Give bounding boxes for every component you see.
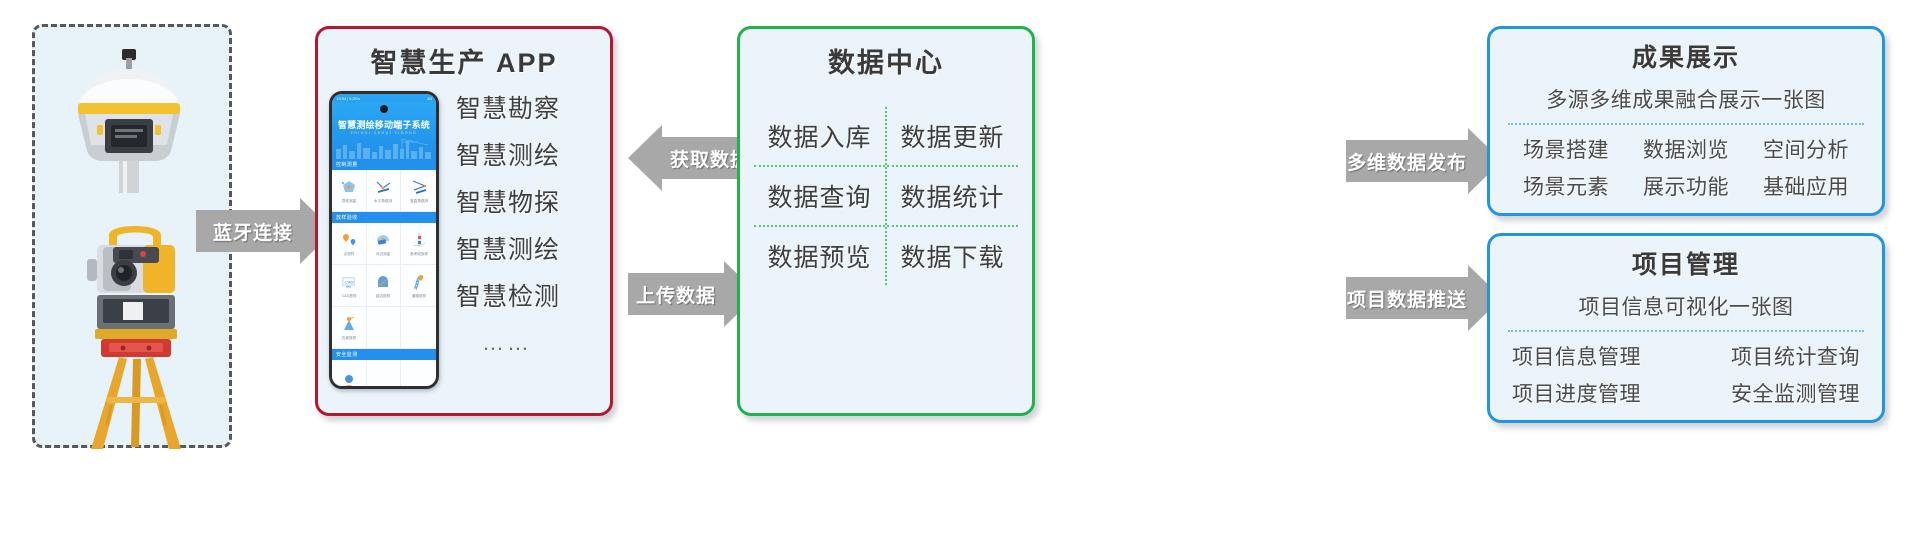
- phone-section-header-control: 控制测量: [332, 159, 436, 170]
- phone-app-cell[interactable]: CAD CAD放样: [332, 265, 367, 307]
- data-center-cell[interactable]: 数据预览: [754, 227, 885, 285]
- phone-app-cell-label: 延边放样: [376, 293, 390, 298]
- phone-app-cell-label: 水平角观测: [374, 198, 392, 203]
- project-feature-item[interactable]: 安全监测管理: [1731, 378, 1860, 408]
- project-feature-rows: 项目信息管理 项目统计查询 项目进度管理 安全监测管理: [1490, 341, 1882, 408]
- arrow-push-project: 项目数据推送: [1346, 265, 1502, 331]
- phone-grid-control: 导线测量 水平角观测 竖直角观测: [332, 170, 436, 212]
- phone-grid-layout: 点放样 对边测量 参考线放样: [332, 223, 436, 349]
- app-capability-list: 智慧勘察 智慧测绘 智慧物探 智慧测绘 智慧检测 ……: [450, 87, 610, 417]
- phone-app-cell-label: 竖直角观测: [410, 198, 428, 203]
- app-panel-title: 智慧生产 APP: [318, 41, 610, 80]
- road-icon: [410, 273, 428, 291]
- data-center-right-column: 数据更新 数据统计 数据下载: [887, 107, 1018, 285]
- result-display-panel: 成果展示 多源多维成果融合展示一张图 场景搭建 数据浏览 空间分析 场景元素 展…: [1487, 26, 1885, 216]
- phone-status-right: 4G: [427, 96, 432, 101]
- arrow-publish-data-label: 多维数据发布: [1346, 140, 1468, 182]
- svg-text:CAD: CAD: [345, 279, 354, 284]
- phone-app-cell-empty: [367, 360, 402, 389]
- skyline-graphic: [332, 137, 436, 159]
- phone-app-cell[interactable]: 水平角观测: [367, 170, 402, 212]
- slope-icon: [340, 315, 358, 333]
- arc-icon: [374, 231, 392, 249]
- project-feature-item[interactable]: 项目信息管理: [1512, 341, 1641, 371]
- app-capability-item: 智慧测绘: [456, 238, 610, 263]
- phone-app-cell-label: 导线测量: [342, 198, 356, 203]
- result-feature-rows: 场景搭建 数据浏览 空间分析 场景元素 展示功能 基础应用: [1490, 134, 1882, 201]
- result-display-title: 成果展示: [1490, 38, 1882, 74]
- data-center-cell[interactable]: 数据更新: [887, 107, 1018, 167]
- phone-hero-banner: 智慧测绘移动端子系统 ZHIHUI CEHUI YIDONG: [332, 103, 436, 159]
- arrow-head-left-icon: [628, 125, 662, 191]
- polygon-icon: [340, 178, 358, 196]
- phone-section-header-layout: 放样验收: [332, 212, 436, 223]
- phone-app-cell[interactable]: 道路放样: [401, 265, 436, 307]
- phone-mockup-wrapper: 13:54 | 9.2K/s 4G: [318, 87, 450, 417]
- data-center-cell[interactable]: 数据查询: [754, 167, 885, 227]
- app-capability-item: 智慧测绘: [456, 144, 610, 169]
- project-divider: [1508, 330, 1864, 332]
- pin-icon: [340, 231, 358, 249]
- data-center-cell[interactable]: 数据下载: [887, 227, 1018, 285]
- result-feature-item[interactable]: 数据浏览: [1643, 134, 1729, 164]
- arrow-publish-data: 多维数据发布: [1346, 128, 1502, 194]
- phone-app-cell-label: 参考线放样: [410, 251, 428, 256]
- project-feature-row: 项目信息管理 项目统计查询: [1506, 341, 1866, 371]
- phone-hero-subtitle: ZHIHUI CEHUI YIDONG: [332, 131, 436, 135]
- app-capability-more: ……: [456, 332, 610, 354]
- phone-mockup: 13:54 | 9.2K/s 4G: [329, 91, 439, 389]
- project-management-title: 项目管理: [1490, 245, 1882, 281]
- phone-app-cell-empty: [367, 307, 402, 349]
- phone-grid-safety: [332, 360, 436, 389]
- data-center-panel: 数据中心 数据入库 数据查询 数据预览 数据更新 数据统计 数据下载: [737, 26, 1035, 416]
- result-feature-item[interactable]: 空间分析: [1763, 134, 1849, 164]
- angle-icon: [374, 178, 392, 196]
- app-panel-body: 13:54 | 9.2K/s 4G: [318, 87, 610, 417]
- app-capability-item: 智慧勘察: [456, 97, 610, 122]
- arrow-bluetooth: 蓝牙连接: [196, 198, 334, 264]
- project-management-subtitle: 项目信息可视化一张图: [1490, 291, 1882, 321]
- result-feature-item[interactable]: 场景搭建: [1523, 134, 1609, 164]
- data-center-grid: 数据入库 数据查询 数据预览 数据更新 数据统计 数据下载: [754, 107, 1018, 285]
- arrow-bluetooth-label: 蓝牙连接: [196, 210, 300, 252]
- phone-app-cell-label: 道路放样: [411, 293, 425, 298]
- phone-app-cell[interactable]: 延边放样: [367, 265, 402, 307]
- project-feature-item[interactable]: 项目统计查询: [1731, 341, 1860, 371]
- phone-app-cell-label: CAD放样: [341, 293, 356, 298]
- result-feature-item[interactable]: 展示功能: [1643, 171, 1729, 201]
- vertical-angle-icon: [410, 178, 428, 196]
- phone-hero-title: 智慧测绘移动端子系统: [332, 118, 436, 131]
- result-feature-item[interactable]: 基础应用: [1763, 171, 1849, 201]
- gnss-receiver-icon: [59, 45, 199, 195]
- result-feature-row: 场景搭建 数据浏览 空间分析: [1506, 134, 1866, 164]
- phone-app-cell[interactable]: 导线测量: [332, 170, 367, 212]
- project-management-panel: 项目管理 项目信息可视化一张图 项目信息管理 项目统计查询 项目进度管理 安全监…: [1487, 233, 1885, 423]
- app-capability-item: 智慧物探: [456, 191, 610, 216]
- total-station-icon: [51, 209, 219, 449]
- result-feature-row: 场景元素 展示功能 基础应用: [1506, 171, 1866, 201]
- result-feature-item[interactable]: 场景元素: [1523, 171, 1609, 201]
- architecture-diagram: 蓝牙连接 智慧生产 APP 13:54 | 9.2K/s 4G: [0, 0, 1920, 556]
- phone-app-cell-empty: [401, 360, 436, 389]
- data-center-cell[interactable]: 数据入库: [754, 107, 885, 167]
- arrow-upload-data-label: 上传数据: [628, 273, 724, 315]
- phone-app-cell-empty: [401, 307, 436, 349]
- phone-app-cell[interactable]: 竖直角观测: [401, 170, 436, 212]
- result-display-subtitle: 多源多维成果融合展示一张图: [1490, 84, 1882, 114]
- app-panel: 智慧生产 APP 13:54 | 9.2K/s 4G: [315, 26, 613, 416]
- project-feature-row: 项目进度管理 安全监测管理: [1506, 378, 1866, 408]
- result-divider: [1508, 123, 1864, 125]
- phone-app-cell[interactable]: [332, 360, 367, 389]
- ruler-icon: [410, 231, 428, 249]
- phone-app-cell[interactable]: 边坡放样: [332, 307, 367, 349]
- phone-app-cell[interactable]: 对边测量: [367, 223, 402, 265]
- phone-camera-icon: [380, 105, 388, 113]
- data-center-cell[interactable]: 数据统计: [887, 167, 1018, 227]
- phone-section-header-safety: 安全监测: [332, 349, 436, 360]
- monitor2-icon: [340, 372, 358, 390]
- app-capability-item: 智慧检测: [456, 285, 610, 310]
- phone-status-left: 13:54 | 9.2K/s: [337, 96, 360, 101]
- phone-status-bar: 13:54 | 9.2K/s 4G: [332, 94, 436, 103]
- arrow-push-project-label: 项目数据推送: [1346, 277, 1468, 319]
- phone-app-cell-label: 边坡放样: [342, 335, 356, 340]
- phone-app-cell[interactable]: 参考线放样: [401, 223, 436, 265]
- dome-icon: [374, 273, 392, 291]
- phone-app-cell-label: 点放样: [343, 251, 354, 256]
- data-center-title: 数据中心: [740, 41, 1032, 80]
- data-center-left-column: 数据入库 数据查询 数据预览: [754, 107, 887, 285]
- project-feature-item[interactable]: 项目进度管理: [1512, 378, 1641, 408]
- phone-app-cell[interactable]: 点放样: [332, 223, 367, 265]
- monitor-icon: CAD: [340, 273, 358, 291]
- phone-app-cell-label: 对边测量: [376, 251, 390, 256]
